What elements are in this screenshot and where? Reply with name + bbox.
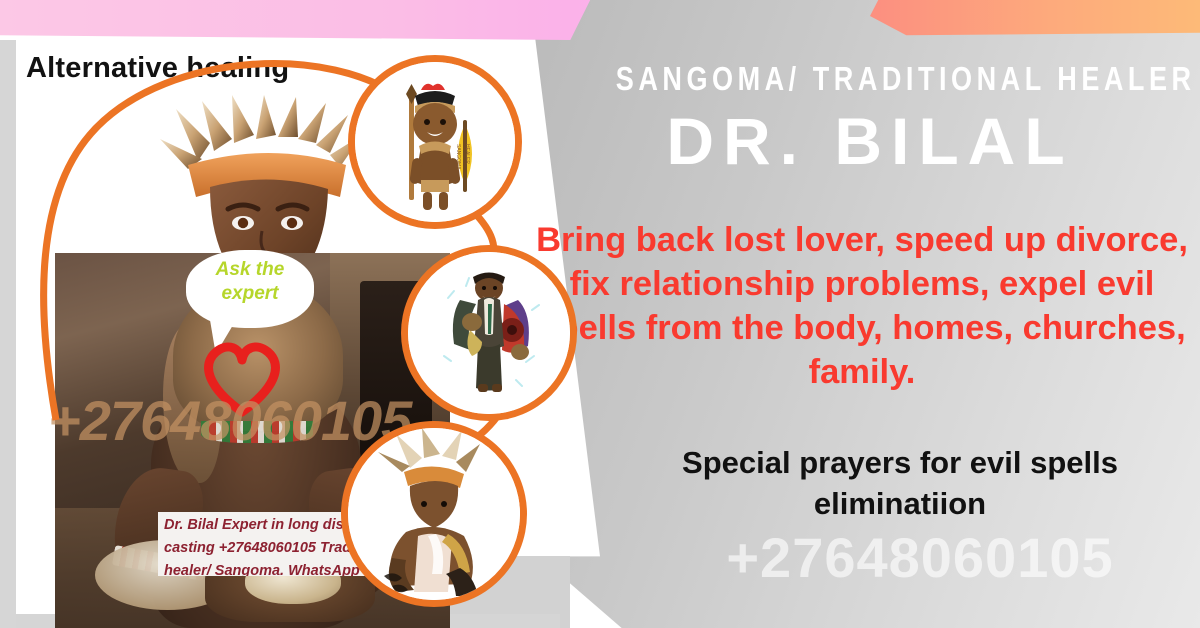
- poster-canvas: Alternative healing: [0, 0, 1200, 628]
- speech-bubble-text: Ask the expert: [186, 258, 314, 306]
- badge-zulu-warrior: SANGOMA HEALER: [355, 62, 515, 222]
- brand-name-dr-bilal: DR. BILAL: [560, 103, 1180, 179]
- kicker-sangoma-traditional-healer: SANGOMA/ TRADITIONAL HEALER: [616, 60, 1124, 98]
- badge-diviner-cape: [408, 252, 570, 414]
- svg-text:HEALER: HEALER: [464, 144, 470, 164]
- left-edge-strip: [0, 40, 16, 628]
- badge-crouching-healer: [348, 428, 520, 600]
- svg-text:SANGOMA: SANGOMA: [455, 144, 461, 170]
- services-red-copy: Bring back lost lover, speed up divorce,…: [532, 218, 1192, 394]
- special-prayers-copy: Special prayers for evil spells eliminat…: [600, 442, 1200, 524]
- alternative-healing-headline: Alternative healing: [26, 52, 289, 85]
- right-watermark-number: +27648060105: [640, 525, 1200, 590]
